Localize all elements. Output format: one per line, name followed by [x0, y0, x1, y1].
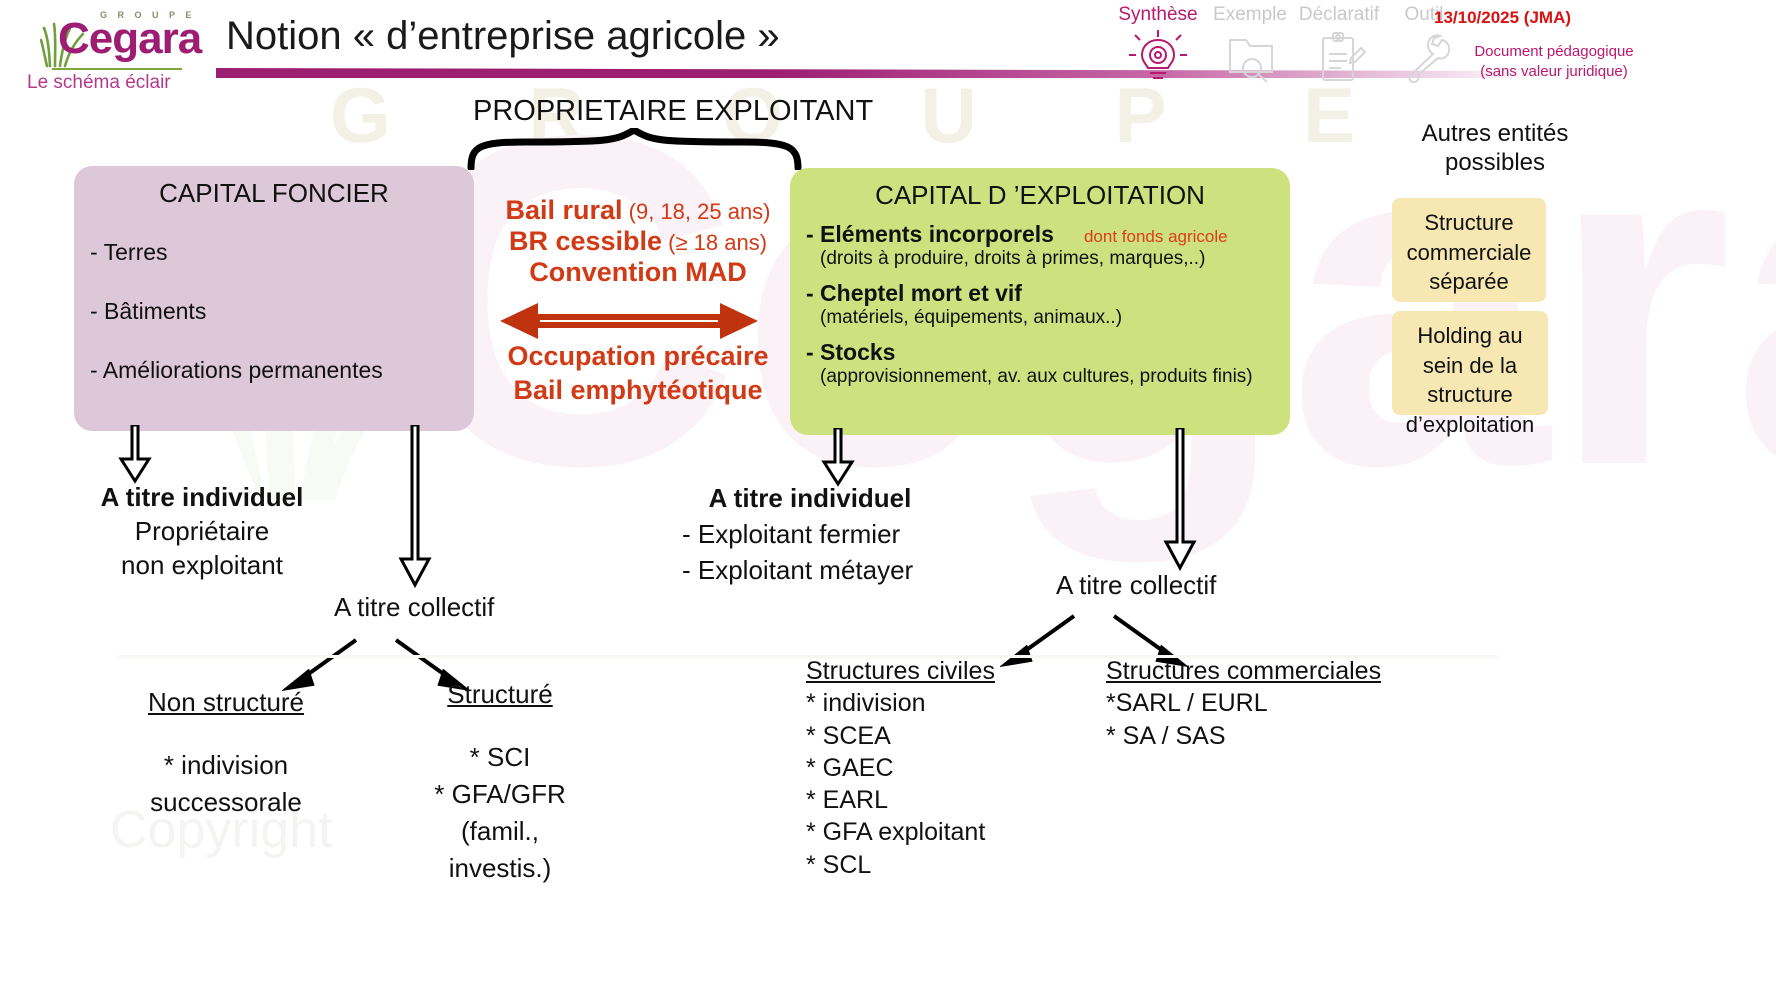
list-item: - Exploitant métayer — [682, 553, 960, 589]
nav-item-declaratif-label: Déclaratif — [1291, 4, 1387, 26]
structures-commerciales-group: Structures commerciales *SARL / EURL * S… — [1106, 655, 1381, 752]
exploitation-item-main: - Cheptel mort et vif — [806, 280, 1022, 306]
autres-entites-heading: Autres entités possibles — [1380, 120, 1610, 178]
foncier-individuel-title: A titre individuel — [101, 482, 304, 512]
exploitation-individuel-title: A titre individuel — [660, 481, 960, 517]
occupation-precaire-label: Occupation précaire — [478, 340, 798, 374]
arrow-exploitation-to-collectif — [1150, 428, 1220, 576]
non-structure-group: Non structuré * indivision successorale — [136, 684, 316, 821]
capital-foncier-title: CAPITAL FONCIER — [74, 178, 474, 209]
page-title: Notion « d’entreprise agricole » — [226, 14, 780, 59]
list-item: * SCI — [410, 739, 590, 776]
list-item: * GAEC — [806, 752, 995, 784]
list-item: * GFA/GFR — [410, 776, 590, 813]
arrow-collectif-to-civiles — [1000, 612, 1080, 672]
exploitation-item-note: dont fonds agricole — [1084, 227, 1228, 246]
nav-item-exemple-label: Exemple — [1202, 4, 1298, 26]
document-disclaimer: Document pédagogique (sans valeur juridi… — [1414, 42, 1694, 81]
arrow-foncier-to-collectif — [385, 425, 455, 593]
structure-commerciale-separee-box: Structure commerciale séparée — [1392, 198, 1546, 302]
list-item: - Cheptel mort et vif (matériels, équipe… — [806, 280, 1290, 329]
br-cessible-line: BR cessible (≥ 18 ans) — [478, 226, 798, 257]
list-item: * SCEA — [806, 720, 995, 752]
folder-search-icon — [1218, 28, 1282, 84]
proprietaire-exploitant-label: PROPRIETAIRE EXPLOITANT — [473, 95, 873, 128]
nav-item-synthese-label: Synthèse — [1110, 4, 1206, 26]
list-item: * EARL — [806, 784, 995, 816]
convention-mad-label: Convention MAD — [478, 257, 798, 288]
structures-civiles-group: Structures civiles * indivision * SCEA *… — [806, 655, 995, 881]
list-item: - Améliorations permanentes — [90, 357, 474, 384]
slide-canvas: G R O U P E Cegara Copyright G R O U P E… — [0, 0, 1776, 1003]
structure-group: Structuré * SCI * GFA/GFR (famil., inves… — [410, 676, 590, 887]
disclaimer-line-2: (sans valeur juridique) — [1414, 62, 1694, 82]
exploitation-item-main: - Stocks — [806, 339, 895, 365]
autres-entites-line-2: possibles — [1380, 149, 1610, 178]
logo-divider — [52, 68, 182, 70]
exploitation-item-sub: (matériels, équipements, animaux..) — [820, 307, 1290, 329]
clipboard-pencil-icon — [1307, 28, 1371, 84]
foncier-collectif-title: A titre collectif — [334, 592, 494, 623]
list-item: * GFA exploitant — [806, 816, 995, 848]
non-structure-title: Non structuré — [136, 684, 316, 721]
header-nav: Synthèse Exemple — [1110, 4, 1450, 84]
occupation-precaire-group: Occupation précaire Bail emphytéotique — [478, 340, 798, 408]
exploitation-item-sub: (approvisionnement, av. aux cultures, pr… — [820, 366, 1290, 388]
foncier-individuel-group: A titre individuel Propriétaire non expl… — [52, 481, 352, 582]
list-item: * indivision — [806, 687, 995, 719]
exploitation-item-sub: (droits à produire, droits à primes, mar… — [820, 248, 1290, 270]
nav-item-declaratif[interactable]: Déclaratif — [1291, 4, 1387, 84]
bail-rural-duration: (9, 18, 25 ans) — [623, 199, 771, 224]
double-headed-arrow-icon — [500, 300, 758, 342]
document-date: 13/10/2025 (JMA) — [1434, 8, 1571, 28]
list-item: * SCL — [806, 849, 995, 881]
list-item: - Exploitant fermier — [682, 517, 960, 553]
logo-tagline: Le schéma éclair — [27, 72, 171, 94]
bail-options-group: Bail rural (9, 18, 25 ans) BR cessible (… — [478, 195, 798, 288]
curly-brace-icon — [466, 128, 806, 170]
br-cessible-duration: (≥ 18 ans) — [662, 230, 767, 255]
bail-emphyteotique-label: Bail emphytéotique — [478, 374, 798, 408]
foncier-individuel-line-2: non exploitant — [52, 549, 352, 583]
foncier-individuel-line-1: Propriétaire — [52, 515, 352, 549]
exploitation-individuel-group: A titre individuel - Exploitant fermier … — [660, 481, 960, 589]
capital-exploitation-title: CAPITAL D ’EXPLOITATION — [790, 180, 1290, 211]
holding-structure-exploitation-box: Holding au sein de la structure d’exploi… — [1392, 311, 1548, 415]
exploitation-collectif-title: A titre collectif — [1056, 570, 1216, 601]
nav-item-synthese[interactable]: Synthèse — [1110, 4, 1206, 84]
disclaimer-line-1: Document pédagogique — [1414, 42, 1694, 62]
autres-entites-line-1: Autres entités — [1380, 120, 1610, 149]
structures-commerciales-title: Structures commerciales — [1106, 655, 1381, 687]
list-item: - Terres — [90, 239, 474, 266]
list-item: *SARL / EURL — [1106, 687, 1381, 719]
list-item: (famil., investis.) — [410, 813, 590, 887]
structure-title: Structuré — [410, 676, 590, 713]
list-item: * SA / SAS — [1106, 720, 1381, 752]
list-item: * indivision — [136, 747, 316, 784]
capital-foncier-items: - Terres - Bâtiments - Améliorations per… — [74, 239, 474, 384]
list-item: - Bâtiments — [90, 298, 474, 325]
structures-civiles-title: Structures civiles — [806, 655, 995, 687]
exploitation-item-main: - Eléments incorporels — [806, 221, 1054, 247]
capital-foncier-box: CAPITAL FONCIER - Terres - Bâtiments - A… — [74, 166, 474, 431]
bail-rural-label: Bail rural — [505, 195, 622, 225]
logo-name: Cegara — [58, 14, 201, 64]
list-item: successorale — [136, 784, 316, 821]
lightbulb-gear-icon — [1126, 28, 1190, 84]
list-item: - Eléments incorporelsdont fonds agricol… — [806, 221, 1290, 270]
capital-exploitation-box: CAPITAL D ’EXPLOITATION - Eléments incor… — [790, 168, 1290, 435]
br-cessible-label: BR cessible — [509, 226, 662, 256]
nav-item-exemple[interactable]: Exemple — [1202, 4, 1298, 84]
list-item: - Stocks (approvisionnement, av. aux cul… — [806, 339, 1290, 388]
bail-rural-line: Bail rural (9, 18, 25 ans) — [478, 195, 798, 226]
